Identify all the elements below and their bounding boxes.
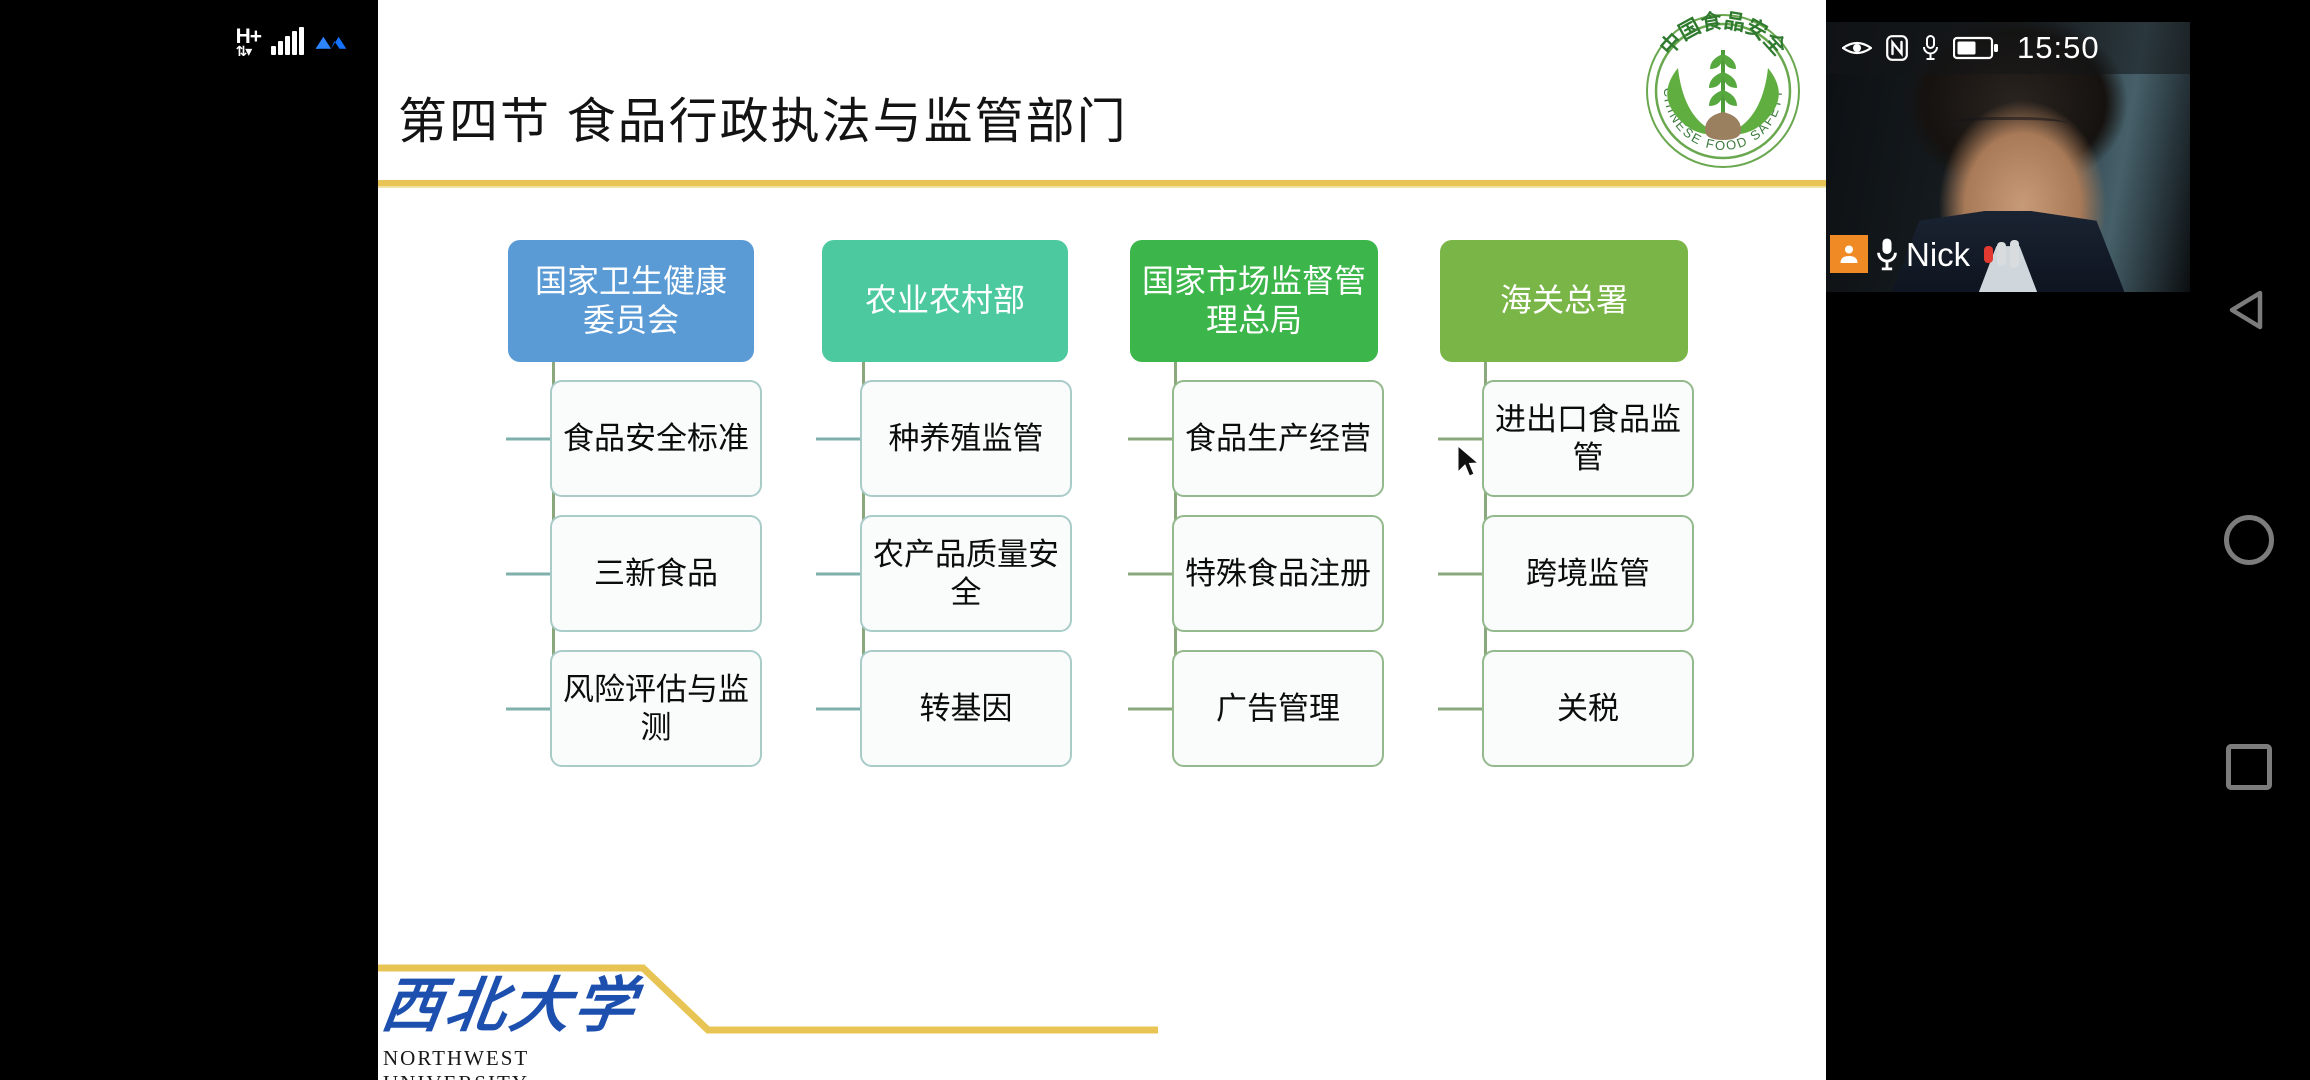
subitem-wrap: 转基因 (818, 650, 1128, 767)
signal-bars-icon (271, 29, 304, 55)
network-type-indicator: H+ ⇅▾ (236, 26, 261, 58)
system-status-bar: H+ ⇅▾ (0, 0, 378, 84)
diagram-column-0: 国家卫生健康委员会 食品安全标准 三新食品 风险评估与监测 (508, 240, 818, 767)
title-divider-thin (378, 186, 1826, 188)
subitem-wrap: 特殊食品注册 (1130, 515, 1440, 632)
connector-line (1128, 437, 1172, 440)
connector-line (816, 572, 860, 575)
subitem-box[interactable]: 食品生产经营 (1172, 380, 1384, 497)
subitem-box[interactable]: 跨境监管 (1482, 515, 1694, 632)
clock-label: 15:50 (2017, 30, 2100, 66)
eye-icon (1842, 38, 1872, 58)
subitem-box[interactable]: 风险评估与监测 (550, 650, 762, 767)
audio-level-bars-icon (1984, 241, 2019, 267)
participant-name-label: Nick (1906, 238, 1970, 271)
subitem-wrap: 跨境监管 (1440, 515, 1750, 632)
blue-app-icon (314, 31, 348, 53)
connector-line (506, 572, 550, 575)
home-circle-icon (2224, 515, 2274, 565)
subitem-box[interactable]: 转基因 (860, 650, 1072, 767)
overlay-status-bar: 15:50 (1826, 22, 2190, 74)
subitem-box[interactable]: 广告管理 (1172, 650, 1384, 767)
subitem-wrap: 食品生产经营 (1130, 380, 1440, 497)
subitem-wrap: 三新食品 (508, 515, 818, 632)
participant-name-bar: Nick (1826, 232, 2019, 276)
connector-line (506, 707, 550, 710)
recents-square-icon (2226, 744, 2272, 790)
department-head-box-1[interactable]: 农业农村部 (822, 240, 1068, 362)
subitem-wrap: 风险评估与监测 (508, 650, 818, 767)
microphone-icon (1922, 35, 1939, 61)
slide-footer: 西北大学 NORTHWEST UNIVERSITY (378, 955, 1826, 1080)
connector-line (1438, 437, 1482, 440)
connector-line (1128, 572, 1172, 575)
slide-title: 第四节 食品行政执法与监管部门 (398, 82, 1128, 153)
right-side-panel: 15:50 Nick (1826, 0, 2310, 1080)
connector-line (816, 707, 860, 710)
subitem-wrap: 农产品质量安全 (818, 515, 1128, 632)
video-person-glasses (1950, 117, 2066, 133)
mouse-cursor (1456, 444, 1482, 480)
subitem-wrap: 种养殖监管 (818, 380, 1128, 497)
subitem-box[interactable]: 农产品质量安全 (860, 515, 1072, 632)
subitem-wrap: 关税 (1440, 650, 1750, 767)
android-nav-bar (2190, 0, 2310, 1080)
battery-icon (1953, 36, 1999, 60)
person-badge-icon (1830, 235, 1868, 273)
presentation-slide: 第四节 食品行政执法与监管部门 中国食品安全 CHINESE FOOD SAFE… (378, 0, 1826, 1080)
department-head-box-3[interactable]: 海关总署 (1440, 240, 1688, 362)
subitem-box[interactable]: 特殊食品注册 (1172, 515, 1384, 632)
participant-video-tile[interactable]: 15:50 Nick (1826, 22, 2190, 292)
recents-button[interactable] (2222, 740, 2276, 794)
home-button[interactable] (2222, 513, 2276, 567)
diagram-column-2: 国家市场监督管理总局 食品生产经营 特殊食品注册 广告管理 (1130, 240, 1440, 767)
org-diagram: 国家卫生健康委员会 食品安全标准 三新食品 风险评估与监测 农业农村部 (378, 240, 1826, 890)
university-name-en: NORTHWEST UNIVERSITY (383, 1046, 673, 1080)
diagram-column-3: 海关总署 进出口食品监管 跨境监管 关税 (1440, 240, 1750, 767)
data-transfer-icon: ⇅▾ (236, 44, 251, 58)
chinese-food-safety-logo: 中国食品安全 CHINESE FOOD SAFETY (1638, 6, 1808, 176)
northwest-university-logo: 西北大学 NORTHWEST UNIVERSITY (383, 957, 673, 1072)
subitem-box[interactable]: 三新食品 (550, 515, 762, 632)
phone-screen: H+ ⇅▾ 第四节 食品行政执法与监管部门 (0, 0, 2310, 1080)
connector-line (1438, 572, 1482, 575)
connector-line (1438, 707, 1482, 710)
subitem-box[interactable]: 关税 (1482, 650, 1694, 767)
university-name-cn: 西北大学 (378, 957, 679, 1044)
subitem-wrap: 进出口食品监管 (1440, 380, 1750, 497)
diagram-column-1: 农业农村部 种养殖监管 农产品质量安全 转基因 (818, 240, 1128, 767)
subitem-wrap: 广告管理 (1130, 650, 1440, 767)
connector-line (1128, 707, 1172, 710)
back-triangle-icon (2224, 285, 2274, 335)
department-head-box-0[interactable]: 国家卫生健康委员会 (508, 240, 754, 362)
nfc-icon (1886, 35, 1908, 61)
subitem-wrap: 食品安全标准 (508, 380, 818, 497)
back-button[interactable] (2222, 283, 2276, 337)
department-head-box-2[interactable]: 国家市场监督管理总局 (1130, 240, 1378, 362)
subitem-box[interactable]: 进出口食品监管 (1482, 380, 1694, 497)
subitem-box[interactable]: 食品安全标准 (550, 380, 762, 497)
connector-line (816, 437, 860, 440)
connector-line (506, 437, 550, 440)
microphone-icon (1876, 237, 1898, 271)
subitem-box[interactable]: 种养殖监管 (860, 380, 1072, 497)
